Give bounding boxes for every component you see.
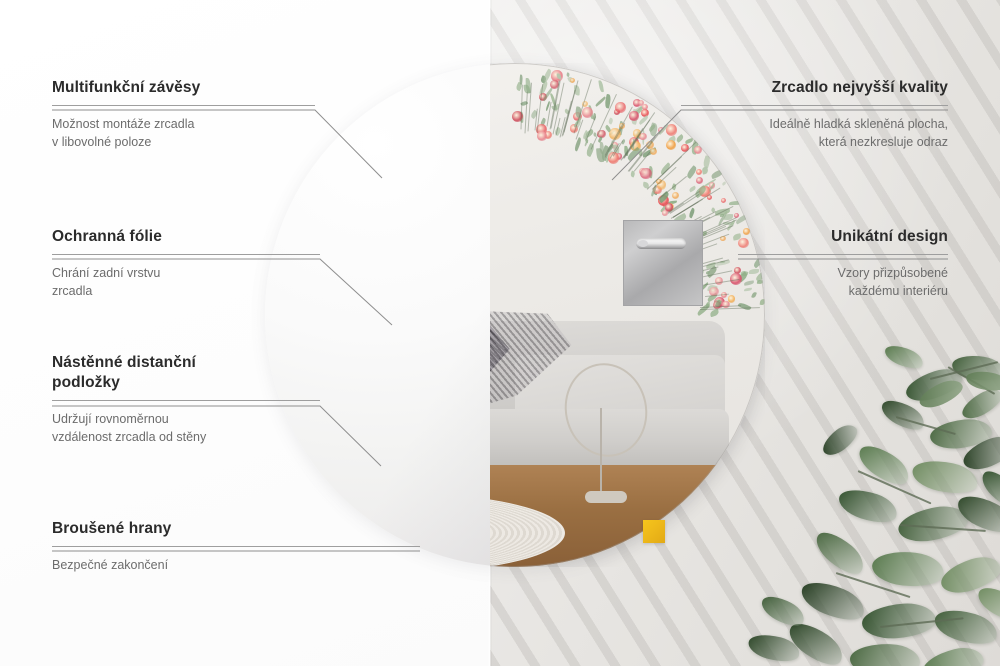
- callout-title: Zrcadlo nejvyšší kvality: [681, 78, 948, 98]
- callout-title: Broušené hrany: [52, 519, 420, 539]
- leaf: [797, 575, 869, 628]
- callout-title: Unikátní design: [738, 227, 948, 247]
- callout-description: Bezpečné zakončení: [52, 556, 420, 575]
- leaf: [835, 483, 901, 528]
- leaf: [818, 420, 862, 460]
- callout-title: Ochranná fólie: [52, 227, 320, 247]
- callout-unikatni-design: Unikátní design Vzory přizpůsobené každé…: [738, 227, 948, 301]
- callout-multifunkcni-zavesy: Multifunkční závěsy Možnost montáže zrca…: [52, 78, 315, 152]
- callout-rule: [52, 546, 420, 547]
- leaf: [870, 548, 945, 589]
- infographic-canvas: Multifunkční závěsy Možnost montáže zrca…: [0, 0, 1000, 666]
- callout-title: Multifunkční závěsy: [52, 78, 315, 98]
- callout-description: Vzory přizpůsobené každému interiéru: [738, 264, 948, 301]
- callout-rule: [738, 254, 948, 255]
- callout-description: Možnost montáže zrcadla v libovolné polo…: [52, 115, 315, 152]
- callout-title: Nástěnné distanční podložky: [52, 353, 320, 393]
- callout-description: Udržují rovnoměrnou vzdálenost zrcadla o…: [52, 410, 320, 447]
- callout-zrcadlo-nejvyssi-kvality: Zrcadlo nejvyšší kvality Ideálně hladká …: [681, 78, 948, 152]
- leaf: [919, 643, 986, 666]
- callout-rule: [52, 105, 315, 106]
- callout-description: Ideálně hladká skleněná plocha, která ne…: [681, 115, 948, 152]
- callout-ochranna-folie: Ochranná fólie Chrání zadní vrstvu zrcad…: [52, 227, 320, 301]
- callout-rule: [681, 105, 948, 106]
- callout-brousene-hrany: Broušené hrany Bezpečné zakončení: [52, 519, 420, 574]
- callout-description: Chrání zadní vrstvu zrcadla: [52, 264, 320, 301]
- callout-rule: [52, 400, 320, 401]
- leaf: [882, 341, 926, 373]
- callout-rule: [52, 254, 320, 255]
- leaf: [849, 643, 920, 666]
- callout-nastenne-distancni-podlozky: Nástěnné distanční podložky Udržují rovn…: [52, 353, 320, 447]
